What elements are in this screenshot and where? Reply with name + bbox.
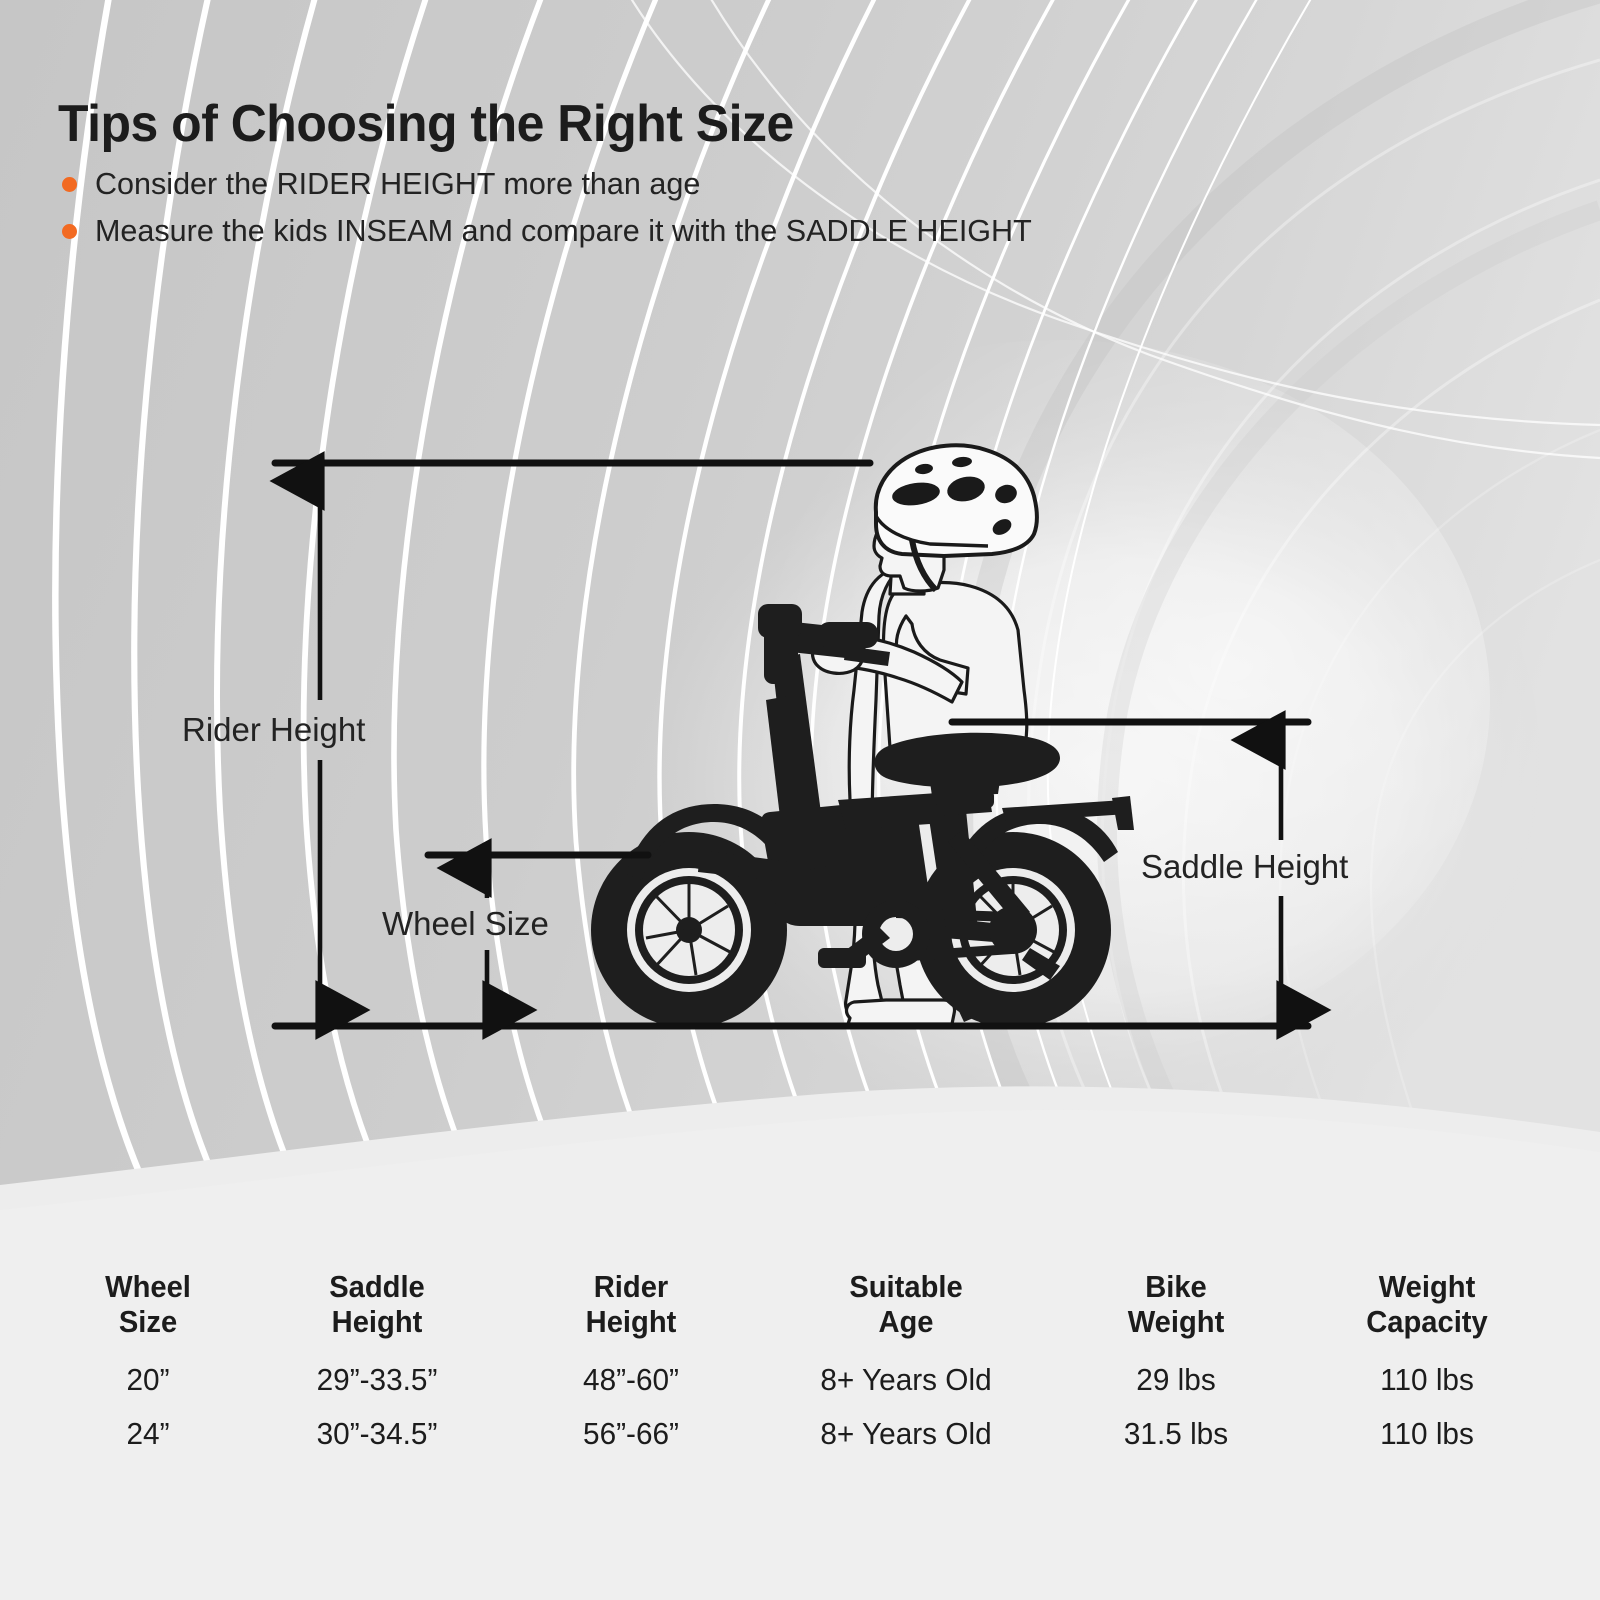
cell-suitable-age: 8+ Years Old xyxy=(762,1353,1050,1407)
header-line-2: Height xyxy=(514,1305,749,1340)
header-line-2: Weight xyxy=(1063,1305,1289,1340)
column-header-weight-capacity: Weight Capacity xyxy=(1304,1270,1550,1353)
bullet-item: Consider the RIDER HEIGHT more than age xyxy=(62,166,1518,203)
cell-wheel-size: 20” xyxy=(52,1353,244,1407)
cell-saddle-height: 29”-33.5” xyxy=(253,1353,501,1407)
bullet-item: Measure the kids INSEAM and compare it w… xyxy=(62,213,1518,250)
cell-wheel-size: 24” xyxy=(52,1407,244,1461)
header-line-2: Capacity xyxy=(1304,1305,1550,1340)
infographic-page: Tips of Choosing the Right Size Consider… xyxy=(0,0,1600,1600)
table-row: 20” 29”-33.5” 48”-60” 8+ Years Old 29 lb… xyxy=(48,1353,1558,1407)
page-title: Tips of Choosing the Right Size xyxy=(58,96,1460,152)
cell-weight-capacity: 110 lbs xyxy=(1301,1407,1553,1461)
bullet-text: Consider the RIDER HEIGHT more than age xyxy=(95,166,700,203)
cell-weight-capacity: 110 lbs xyxy=(1301,1353,1553,1407)
rider-height-label: Rider Height xyxy=(182,711,365,749)
cell-suitable-age: 8+ Years Old xyxy=(762,1407,1050,1461)
wheel-size-label: Wheel Size xyxy=(382,905,549,943)
cell-rider-height: 56”-66” xyxy=(511,1407,751,1461)
bullet-text: Measure the kids INSEAM and compare it w… xyxy=(95,213,1032,250)
bullet-dot-icon xyxy=(62,177,77,192)
cell-saddle-height: 30”-34.5” xyxy=(253,1407,501,1461)
header-block: Tips of Choosing the Right Size Consider… xyxy=(58,96,1518,259)
table-row: 24” 30”-34.5” 56”-66” 8+ Years Old 31.5 … xyxy=(48,1407,1558,1461)
bullet-dot-icon xyxy=(62,224,77,239)
table-header-row: Wheel Size Saddle Height Rider Height Su… xyxy=(48,1270,1558,1353)
spec-table: Wheel Size Saddle Height Rider Height Su… xyxy=(48,1270,1558,1461)
header-line-2: Height xyxy=(256,1305,499,1340)
column-header-rider-height: Rider Height xyxy=(514,1270,749,1353)
column-header-saddle-height: Saddle Height xyxy=(256,1270,499,1353)
column-header-bike-weight: Bike Weight xyxy=(1063,1270,1289,1353)
column-header-suitable-age: Suitable Age xyxy=(765,1270,1047,1353)
cell-bike-weight: 29 lbs xyxy=(1061,1353,1291,1407)
cell-rider-height: 48”-60” xyxy=(511,1353,751,1407)
header-line-2: Size xyxy=(54,1305,242,1340)
header-line-1: Suitable xyxy=(765,1270,1047,1305)
header-line-1: Rider xyxy=(514,1270,749,1305)
column-header-wheel-size: Wheel Size xyxy=(54,1270,242,1353)
header-line-1: Wheel xyxy=(54,1270,242,1305)
saddle-height-label: Saddle Height xyxy=(1141,848,1348,886)
header-line-1: Weight xyxy=(1304,1270,1550,1305)
header-line-2: Age xyxy=(765,1305,1047,1340)
header-line-1: Bike xyxy=(1063,1270,1289,1305)
spec-table-wrapper: Wheel Size Saddle Height Rider Height Su… xyxy=(0,1270,1600,1461)
header-line-1: Saddle xyxy=(256,1270,499,1305)
cell-bike-weight: 31.5 lbs xyxy=(1061,1407,1291,1461)
